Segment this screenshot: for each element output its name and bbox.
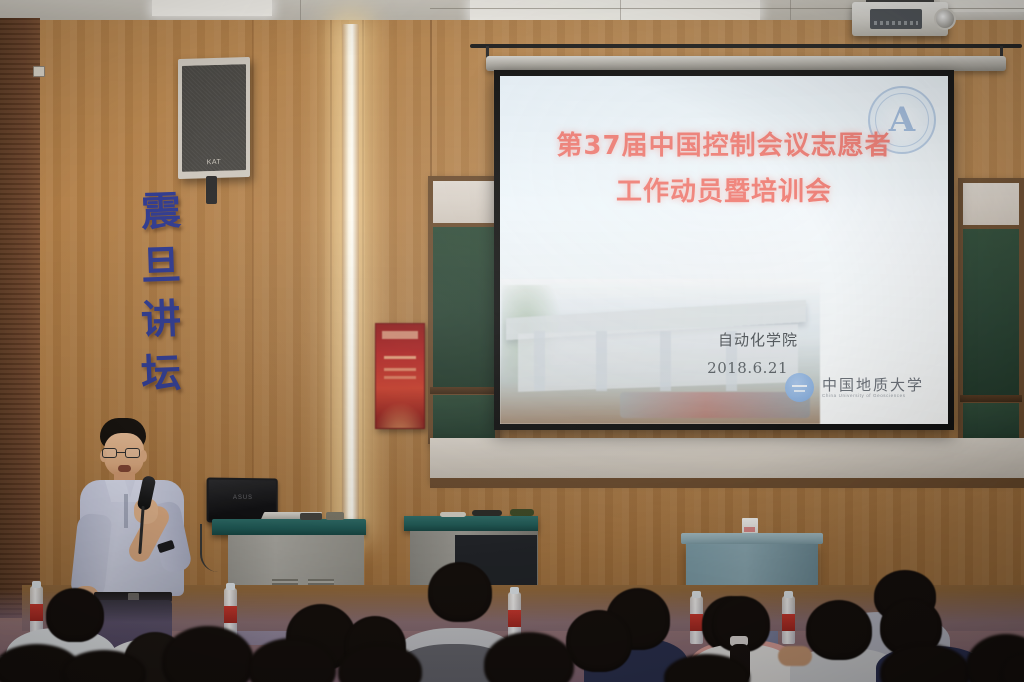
audience-head <box>428 562 492 622</box>
presentation-slide: A 第37届中国控制会议志愿者 工作动员暨培训会 自动化学院 2018.6.21… <box>500 76 948 424</box>
table-pointer[interactable] <box>510 509 534 516</box>
chalkboard-upper-white-panel <box>433 181 495 223</box>
glasses-lens <box>102 448 117 458</box>
photo-vehicles <box>620 392 810 418</box>
chalkboard-left <box>428 176 500 444</box>
slide-date: 2018.6.21 <box>707 359 788 377</box>
logo-circle-icon <box>785 373 814 402</box>
audience-head <box>566 610 632 672</box>
ceiling-grid-line <box>300 0 301 22</box>
bottle-cap <box>32 581 41 588</box>
presenter-glasses <box>102 448 146 458</box>
vertical-light-strip <box>342 24 359 532</box>
glasses-bridge <box>117 452 125 453</box>
table-paper[interactable] <box>440 512 466 517</box>
plaque-text-line <box>384 368 416 371</box>
university-logo: 中国地质大学 China University of Geosciences <box>785 373 924 402</box>
ceiling-light-panel <box>470 0 760 20</box>
bottle-cap <box>510 587 519 594</box>
lecture-hall-photo: KAT 震 旦 讲 坛 <box>0 0 1024 682</box>
chalk-ledge <box>430 387 498 394</box>
laptop-brand-label: ASUS <box>233 495 253 501</box>
calligraphy-char-4: 坛 <box>140 353 181 394</box>
bottle-label <box>30 604 43 621</box>
plaque-text-line <box>384 356 416 359</box>
wall-seam <box>252 20 254 490</box>
bottle-label <box>782 614 795 631</box>
bottle-cap <box>226 583 235 590</box>
slide-organization: 自动化学院 <box>718 329 798 350</box>
wall-speaker: KAT <box>178 57 250 179</box>
calligraphy-char-3: 讲 <box>140 299 181 340</box>
bottle-cap <box>692 591 701 598</box>
photo-pillar <box>534 331 545 391</box>
glasses-lens <box>125 448 140 458</box>
paper-cup-label <box>744 527 755 532</box>
chalkboard-right <box>958 178 1024 450</box>
wall-seam <box>362 20 364 580</box>
wall-award-plaque <box>375 323 425 429</box>
chalkboard-green-surface <box>433 395 495 439</box>
ceiling-grid-line <box>620 0 621 22</box>
stage-table-surface <box>404 516 538 531</box>
presenter-mouth <box>118 465 131 472</box>
speaker-grille <box>182 64 246 172</box>
screen-support-rail <box>470 44 1022 48</box>
bottle-cap <box>784 591 793 598</box>
lower-wall-panel <box>430 438 1024 482</box>
screen-roller-case[interactable] <box>486 56 1006 71</box>
photo-pillar <box>660 331 671 391</box>
wall-seam <box>330 20 332 580</box>
projector-lens <box>934 8 956 30</box>
logo-name-en: China University of Geosciences <box>822 393 924 398</box>
projection-screen[interactable]: A 第37届中国控制会议志愿者 工作动员暨培训会 自动化学院 2018.6.21… <box>494 70 954 430</box>
slide-campus-photo <box>500 279 820 424</box>
ceiling-light-panel <box>152 0 272 16</box>
bottle-label <box>508 610 521 627</box>
lower-wall-trim <box>430 478 1024 488</box>
desk-remote[interactable] <box>300 513 322 520</box>
chalkboard-green-surface <box>433 227 495 387</box>
photo-pillar <box>596 331 607 391</box>
wall-calligraphy: 震 旦 讲 坛 <box>128 192 194 394</box>
calligraphy-char-2: 旦 <box>140 245 181 286</box>
shirt-placket <box>124 494 128 528</box>
table-marker[interactable] <box>472 510 502 516</box>
audience-head <box>806 600 872 660</box>
wall-socket[interactable] <box>33 66 45 77</box>
slide-title-line-1: 第37届中国控制会议志愿者 <box>500 124 948 170</box>
podium-desk-surface <box>212 519 366 535</box>
audience <box>0 540 1024 682</box>
calligraphy-char-1: 震 <box>140 191 181 232</box>
logo-name-cn: 中国地质大学 <box>822 377 924 394</box>
slide-title-line-2: 工作动员暨培训会 <box>500 170 948 216</box>
projector-vents <box>874 21 918 25</box>
ceiling-grid-line <box>790 0 791 22</box>
plaque-bottom-glow <box>375 402 425 429</box>
chalkboard-green-surface <box>963 229 1019 395</box>
desk-item[interactable] <box>326 512 344 520</box>
speaker-brand-label: KAT <box>207 159 222 166</box>
bottle-label <box>224 606 237 623</box>
chalk-ledge <box>960 395 1022 402</box>
brick-side-wall-texture <box>0 18 40 618</box>
audience-head <box>46 588 104 642</box>
speaker-mount-bracket <box>206 176 217 204</box>
plaque-header-band <box>382 331 418 339</box>
slide-title: 第37届中国控制会议志愿者 工作动员暨培训会 <box>500 124 948 215</box>
audience-hand <box>778 646 812 666</box>
plaque-text-line <box>384 376 416 379</box>
projector-control-panel <box>870 9 922 29</box>
chalkboard-upper-white-panel <box>963 183 1019 225</box>
